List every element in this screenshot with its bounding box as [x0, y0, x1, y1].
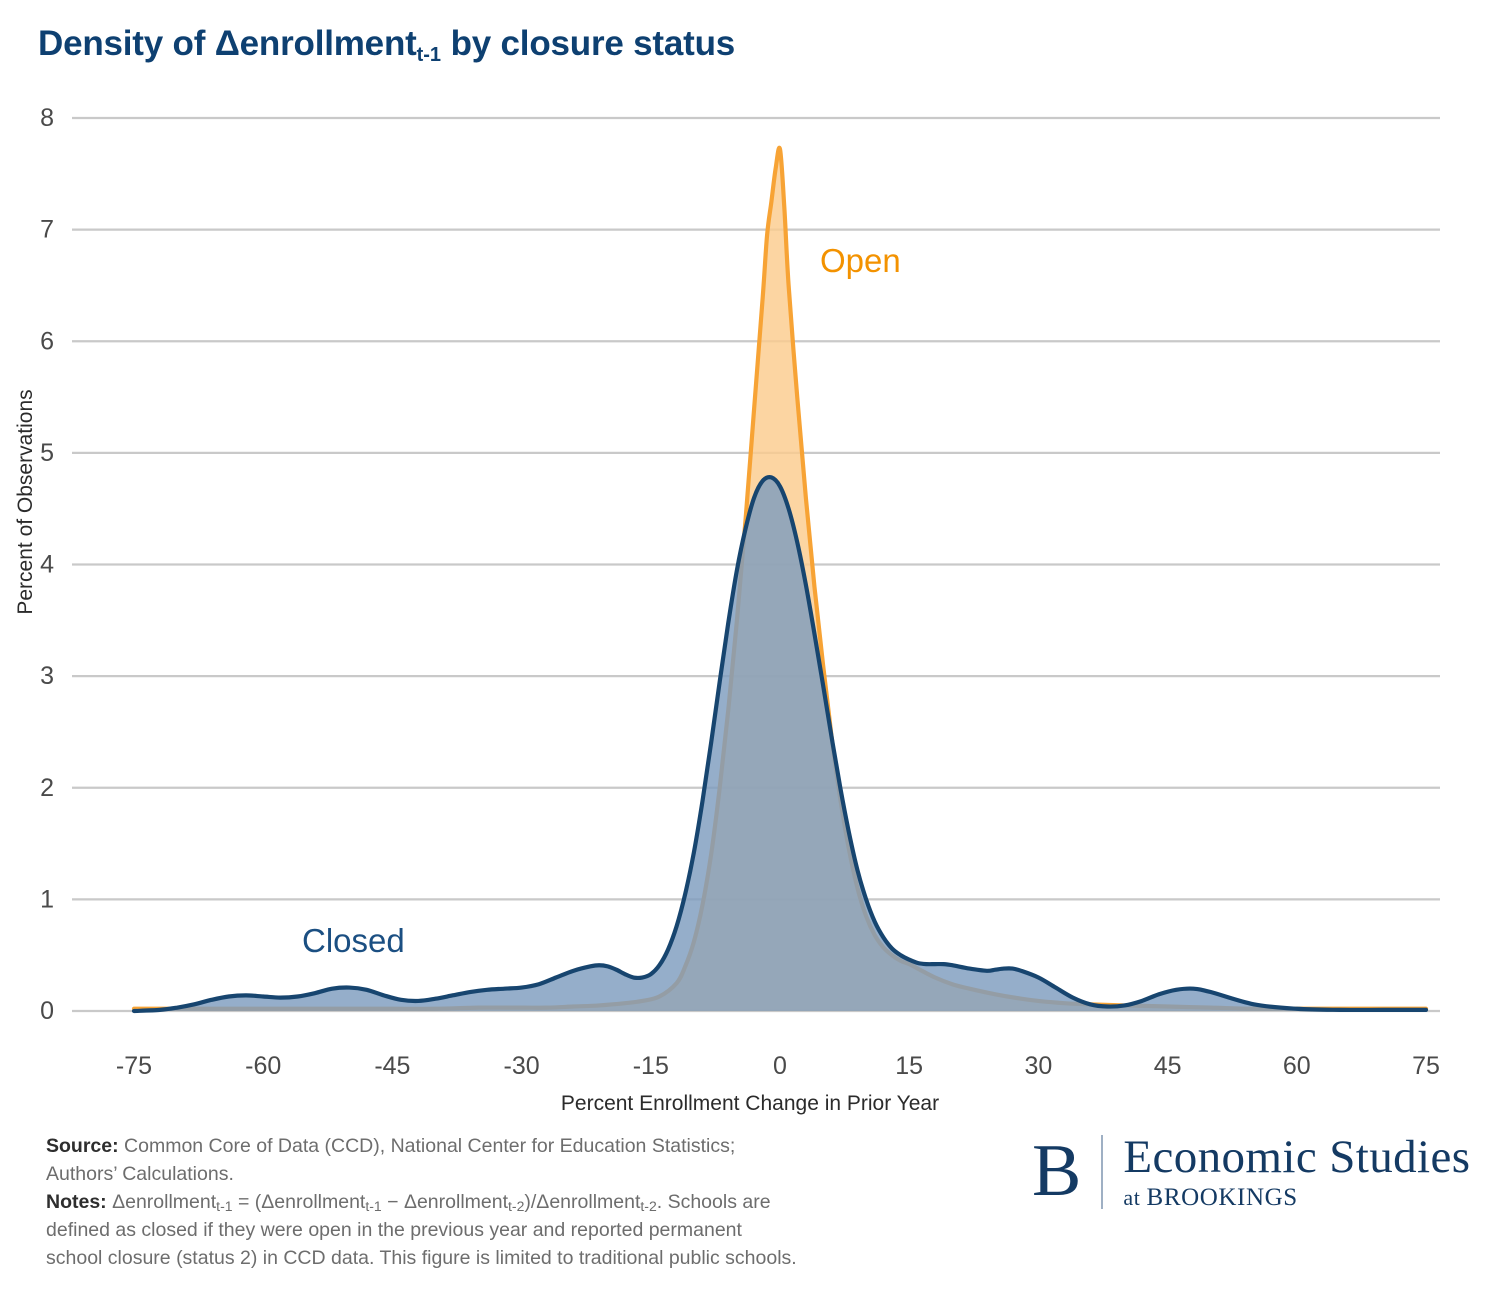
- y-tick-label: 3: [40, 662, 54, 690]
- x-tick-label: 75: [1412, 1052, 1440, 1080]
- y-tick-label: 8: [40, 104, 54, 132]
- density-chart-svg: 012345678 -75-60-45-30-1501530456075: [0, 0, 1500, 1120]
- logo-text-block: Economic Studies at BROOKINGS: [1123, 1134, 1470, 1210]
- series-label-closed: Closed: [302, 922, 405, 960]
- notes-t2: = (Δenrollment: [233, 1191, 366, 1213]
- x-tick-label: -15: [633, 1052, 669, 1080]
- notes-line-1: Notes: Δenrollmentt-1 = (Δenrollmentt-1 …: [46, 1189, 976, 1217]
- x-tick-label: 15: [895, 1052, 923, 1080]
- y-tick-label: 2: [40, 774, 54, 802]
- y-tick-labels-group: 012345678: [40, 104, 54, 1025]
- source-line-1: Source: Common Core of Data (CCD), Natio…: [46, 1133, 976, 1161]
- y-tick-label: 4: [40, 551, 54, 579]
- notes-line-2: defined as closed if they were open in t…: [46, 1217, 976, 1245]
- logo-at: at: [1123, 1185, 1146, 1210]
- x-tick-label: -75: [116, 1052, 152, 1080]
- notes-line-3: school closure (status 2) in CCD data. T…: [46, 1245, 976, 1273]
- x-tick-label: -45: [374, 1052, 410, 1080]
- notes-sub-4: t-2: [640, 1198, 656, 1214]
- logo-org: BROOKINGS: [1147, 1184, 1298, 1211]
- y-axis-title: Percent of Observations: [14, 372, 38, 632]
- logo-divider: [1101, 1135, 1103, 1209]
- notes-t3: − Δenrollment: [382, 1191, 508, 1213]
- notes-label: Notes:: [46, 1191, 107, 1213]
- x-tick-label: 60: [1283, 1052, 1311, 1080]
- y-tick-label: 1: [40, 885, 54, 913]
- series-label-open: Open: [820, 242, 901, 280]
- x-tick-label: -60: [245, 1052, 281, 1080]
- notes-sub-2: t-1: [365, 1198, 381, 1214]
- chart-plot-area: 012345678 -75-60-45-30-1501530456075 Per…: [0, 0, 1500, 1120]
- logo-title: Economic Studies: [1123, 1134, 1470, 1181]
- y-tick-label: 7: [40, 216, 54, 244]
- x-axis-title: Percent Enrollment Change in Prior Year: [0, 1092, 1500, 1116]
- notes-t5: . Schools are: [657, 1191, 771, 1213]
- source-text: Common Core of Data (CCD), National Cent…: [119, 1135, 736, 1157]
- source-line-2: Authors’ Calculations.: [46, 1161, 976, 1189]
- x-tick-labels-group: -75-60-45-30-1501530456075: [116, 1052, 1440, 1080]
- x-tick-label: 0: [773, 1052, 787, 1080]
- brookings-logo: B Economic Studies at BROOKINGS: [1032, 1134, 1470, 1210]
- y-tick-label: 6: [40, 327, 54, 355]
- notes-sub-1: t-1: [216, 1198, 232, 1214]
- notes-t4: )/Δenrollment: [524, 1191, 640, 1213]
- logo-subtitle: at BROOKINGS: [1123, 1185, 1470, 1210]
- x-tick-label: 30: [1024, 1052, 1052, 1080]
- x-tick-label: 45: [1154, 1052, 1182, 1080]
- x-tick-label: -30: [504, 1052, 540, 1080]
- brookings-b-mark: B: [1032, 1139, 1101, 1204]
- y-tick-label: 5: [40, 439, 54, 467]
- y-tick-label: 0: [40, 997, 54, 1025]
- series-group: [134, 148, 1426, 1011]
- source-label: Source:: [46, 1135, 119, 1157]
- notes-t1: Δenrollment: [107, 1191, 217, 1213]
- notes-sub-3: t-2: [508, 1198, 524, 1214]
- footer-notes: Source: Common Core of Data (CCD), Natio…: [46, 1133, 976, 1272]
